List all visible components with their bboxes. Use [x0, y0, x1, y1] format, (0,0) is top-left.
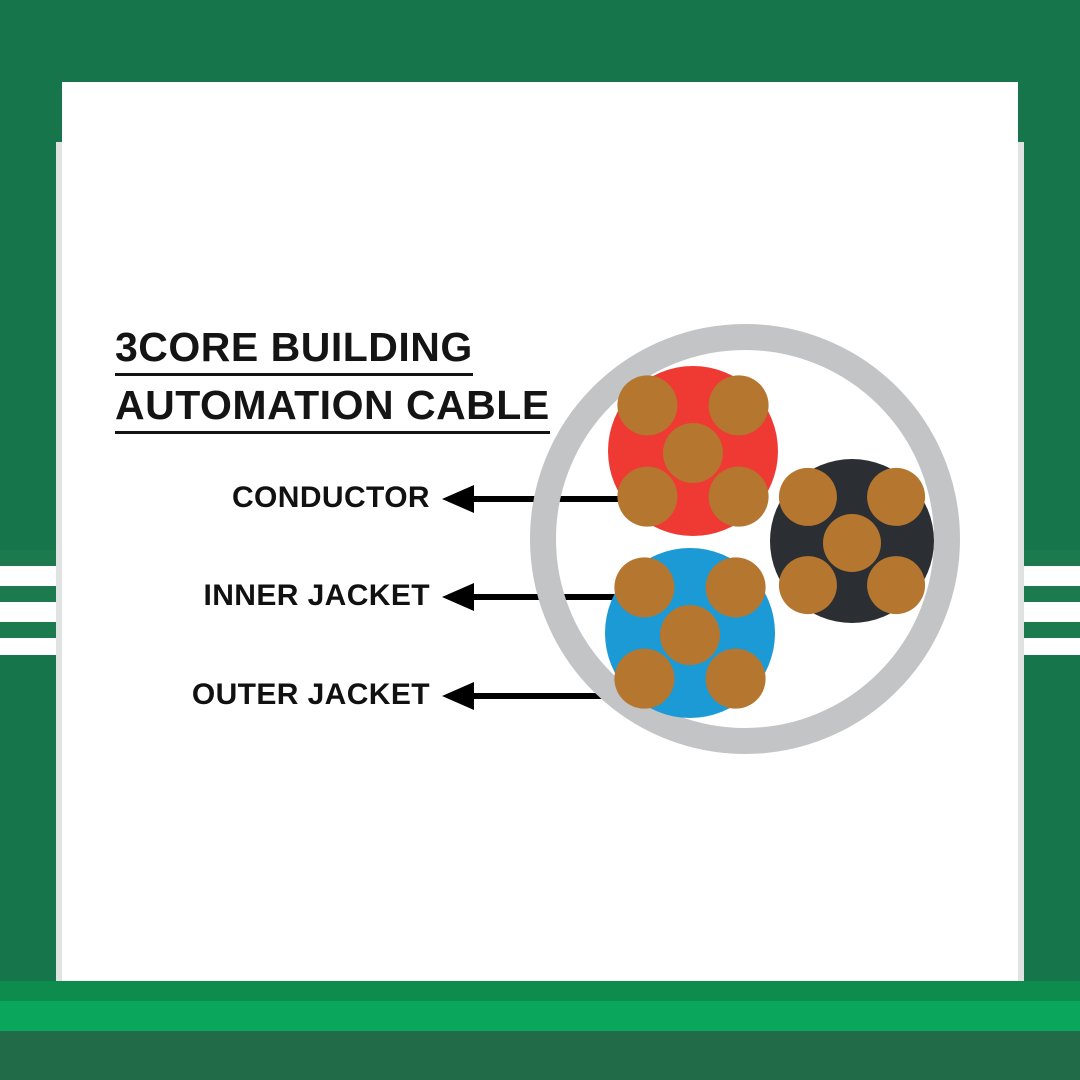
- conductor-strand-blue-core-1: [614, 557, 674, 617]
- conductor-strand-red-core-4: [709, 467, 769, 527]
- callout-label-conductor: CONDUCTOR: [120, 481, 442, 515]
- conductor-strand-red-core-3: [617, 467, 677, 527]
- frame-stripe-right-3: [1018, 622, 1080, 638]
- conductor-strand-red-core-1: [617, 375, 677, 435]
- frame-band-left-top: [0, 142, 62, 550]
- conductor-strand-blue-core-2: [706, 557, 766, 617]
- frame-band-bottom-dark: [0, 981, 1080, 1001]
- frame-band-bottom-bright: [0, 1001, 1080, 1031]
- conductor-strand-black-core-3: [779, 556, 837, 614]
- conductor-strand-red-core-2: [709, 375, 769, 435]
- conductor-strand-red-core-5: [663, 423, 723, 483]
- cable-cross-section-diagram: [525, 303, 965, 775]
- frame-guideline-right: [1018, 142, 1024, 982]
- frame-stripe-right-2: [1018, 586, 1080, 602]
- conductor-strand-black-core-5: [823, 514, 881, 572]
- conductor-strand-black-core-1: [779, 468, 837, 526]
- page-title-line-1: 3CORE BUILDING: [115, 322, 473, 376]
- poster-canvas: 3CORE BUILDING AUTOMATION CABLE CONDUCTO…: [0, 0, 1080, 1080]
- frame-stripe-right-1: [1018, 550, 1080, 566]
- page-title-line-2: AUTOMATION CABLE: [115, 380, 550, 434]
- conductor-strand-blue-core-4: [706, 649, 766, 709]
- callout-label-outer-jacket: OUTER JACKET: [120, 678, 442, 712]
- frame-stripe-left-3: [0, 622, 62, 638]
- cable-cross-section-svg: [525, 303, 965, 775]
- frame-band-bottom-deep: [0, 1031, 1080, 1080]
- frame-stripe-left-1: [0, 550, 62, 566]
- conductor-strand-blue-core-3: [614, 649, 674, 709]
- frame-band-right-top: [1018, 142, 1080, 550]
- conductor-strand-blue-core-5: [660, 605, 720, 665]
- frame-band-right-bottom: [1018, 655, 1080, 981]
- page-title: 3CORE BUILDING AUTOMATION CABLE: [115, 322, 545, 438]
- frame-band-left-bottom: [0, 655, 62, 981]
- conductor-strand-black-core-4: [867, 556, 925, 614]
- callout-label-inner-jacket: INNER JACKET: [120, 579, 442, 613]
- frame-stripe-left-2: [0, 586, 62, 602]
- conductor-strand-black-core-2: [867, 468, 925, 526]
